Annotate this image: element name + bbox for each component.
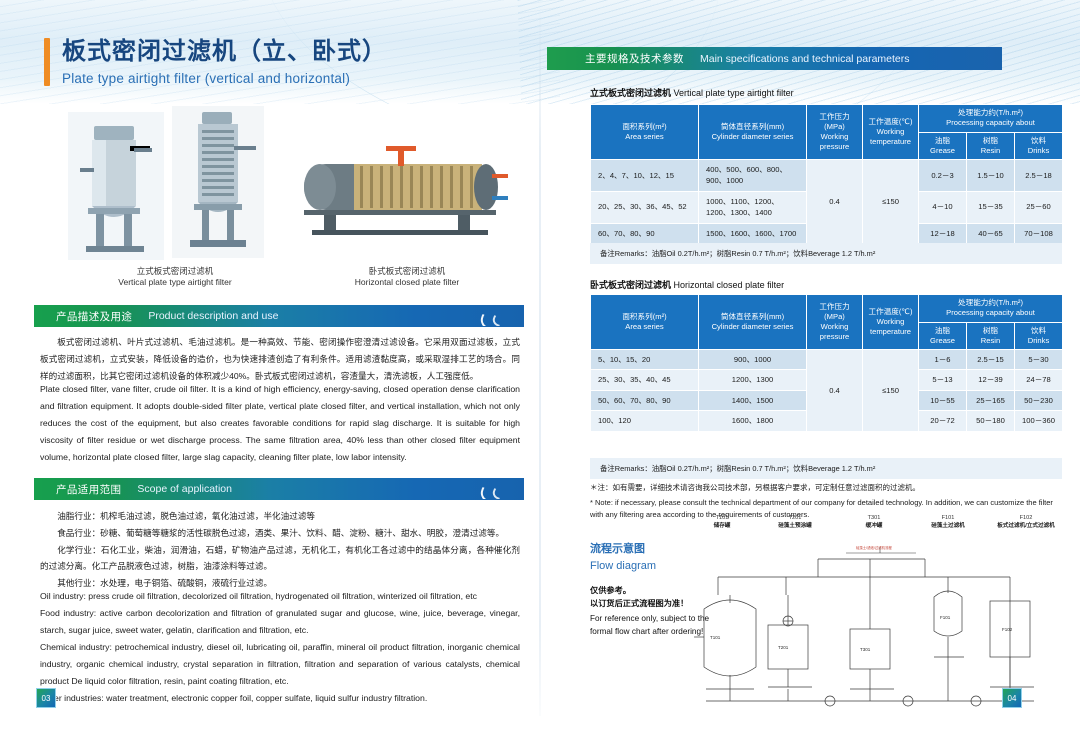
scope-list-en: Oil industry: press crude oil filtration… <box>40 588 520 707</box>
th-area-en: Area series <box>625 132 663 141</box>
cell-diameter: 1200、1300 <box>699 370 807 390</box>
spec-table-horizontal: 面积系列(m²) Area series 筒体直径系列(mm) Cylinder… <box>590 294 1063 432</box>
cell-area: 50、60、70、80、90 <box>591 390 699 410</box>
page-title-cn: 板式密闭过滤机（立、卧式） <box>62 38 387 66</box>
cell-temperature: ≤150 <box>863 160 919 244</box>
th-temperature-cn: 工作温度(℃) <box>869 307 913 316</box>
caption-horizontal-en: Horizontal closed plate filter <box>302 277 512 288</box>
cell-area: 5、10、15、20 <box>591 350 699 370</box>
th-temperature-en: Working temperature <box>870 317 911 336</box>
cell-grease: 20－72 <box>919 411 967 431</box>
vertical-filter-illustration-a <box>68 112 164 260</box>
th-pressure-en: Working pressure <box>820 132 850 151</box>
th-grease: 油脂 Grease <box>919 132 967 160</box>
th-pressure: 工作压力(MPa) Working pressure <box>807 105 863 160</box>
th-temperature-en: Working temperature <box>870 127 911 146</box>
cell-pressure: 0.4 <box>807 160 863 244</box>
table-header-row: 面积系列(m²) Area series 筒体直径系列(mm) Cylinder… <box>591 295 1063 323</box>
scope-item-en: Food industry: active carbon decolorizat… <box>40 605 520 639</box>
specs-ribbon-header: 主要规格及技术参数 Main specifications and techni… <box>547 47 1002 70</box>
section-header-description: 产品描述及用途 Product description and use <box>34 305 524 327</box>
th-drinks-en: Drinks <box>1028 336 1050 345</box>
cell-grease: 4－10 <box>919 191 967 223</box>
th-pressure-cn: 工作压力(MPa) <box>819 302 849 321</box>
th-drinks: 饮料 Drinks <box>1015 132 1063 160</box>
flow-equipment-t101: T101 储存罐 <box>690 515 754 529</box>
th-pressure-en: Working pressure <box>820 322 850 341</box>
flow-name: 硅藻土预涂罐 <box>752 521 838 529</box>
flow-diagram: T101 储存罐 T201 硅藻土预涂罐 T301 缓冲罐 F101 硅藻土过滤… <box>690 515 1065 715</box>
remarks-vertical: 备注Remarks：油脂Oil 0.2T/h.m²；树脂Resin 0.7 T/… <box>590 243 1062 264</box>
th-area: 面积系列(m²) Area series <box>591 105 699 160</box>
table-row: 2、4、7、10、12、15 400、500、600、800、900、1000 … <box>591 160 1063 192</box>
description-paragraph-cn: 板式密闭过滤机、叶片式过滤机、毛油过滤机。是一种高效、节能、密闭操作密澄清过滤设… <box>40 334 520 384</box>
th-grease-en: Grease <box>930 146 955 155</box>
table-title-vertical-cn: 立式板式密闭过滤机 <box>590 88 671 98</box>
flow-name: 板式过滤机/立式过滤机 <box>986 521 1066 529</box>
table-header-row: 面积系列(m²) Area series 筒体直径系列(mm) Cylinder… <box>591 105 1063 133</box>
th-pressure-cn: 工作压力(MPa) <box>819 112 849 131</box>
product-photo-horizontal <box>290 138 512 242</box>
caption-horizontal-cn: 卧式板式密闭过滤机 <box>302 266 512 277</box>
cell-diameter: 1400、1500 <box>699 390 807 410</box>
th-temperature: 工作温度(℃) Working temperature <box>863 295 919 350</box>
section-swoosh-icon <box>476 306 522 326</box>
svg-text:T101: T101 <box>710 635 721 640</box>
th-drinks-en: Drinks <box>1028 146 1050 155</box>
cell-temperature: ≤150 <box>863 350 919 432</box>
th-grease-en: Grease <box>930 336 955 345</box>
page-title-en: Plate type airtight filter (vertical and… <box>62 71 387 86</box>
flow-equipment-t201: T201 硅藻土预涂罐 <box>752 515 838 529</box>
scope-item-cn: 食品行业：砂糖、葡萄糖等糖浆的活性碳脱色过滤，酒类、果汁、饮料、醋、淀粉、糖汁、… <box>40 525 520 542</box>
th-diameter: 筒体直径系列(mm) Cylinder diameter series <box>699 295 807 350</box>
flow-equipment-f102: F102 板式过滤机/立式过滤机 <box>986 515 1066 529</box>
cell-area: 100、120 <box>591 411 699 431</box>
vertical-filter-cutaway-illustration <box>172 106 264 258</box>
caption-vertical: 立式板式密闭过滤机 Vertical plate type airtight f… <box>80 266 270 289</box>
cell-area: 2、4、7、10、12、15 <box>591 160 699 192</box>
th-resin-en: Resin <box>981 146 1000 155</box>
cell-grease: 0.2－3 <box>919 160 967 192</box>
th-diameter-en: Cylinder diameter series <box>712 132 794 141</box>
cell-area: 25、30、35、40、45 <box>591 370 699 390</box>
flow-diagram-title: 流程示意图 Flow diagram <box>590 540 656 572</box>
th-diameter: 筒体直径系列(mm) Cylinder diameter series <box>699 105 807 160</box>
th-capacity-cn: 处理能力约(T/h.m²) <box>958 108 1023 117</box>
page-number-left: 03 <box>36 688 56 708</box>
svg-text:F101: F101 <box>940 615 951 620</box>
th-resin-cn: 树脂 <box>983 136 998 145</box>
page-spine-divider <box>539 0 541 737</box>
cell-grease: 1－6 <box>919 350 967 370</box>
th-capacity-cn: 处理能力约(T/h.m²) <box>958 298 1023 307</box>
ribbon-label-cn: 主要规格及技术参数 <box>585 51 684 66</box>
svg-text:硅藻土/滤纸/过滤机流程: 硅藻土/滤纸/过滤机流程 <box>856 545 892 550</box>
cell-resin: 1.5－10 <box>967 160 1015 192</box>
table-title-vertical: 立式板式密闭过滤机 Vertical plate type airtight f… <box>590 86 794 99</box>
svg-text:T301: T301 <box>860 647 871 652</box>
cell-resin: 50－180 <box>967 411 1015 431</box>
ribbon-swoosh-icon <box>995 40 1065 82</box>
flow-name: 储存罐 <box>690 521 754 529</box>
cell-drinks: 24－78 <box>1015 370 1063 390</box>
th-capacity-en: Processing capacity about <box>946 308 1035 317</box>
th-resin-cn: 树脂 <box>983 326 998 335</box>
scope-item-en: Other industries: water treatment, elect… <box>40 690 520 707</box>
ribbon-label-en: Main specifications and technical parame… <box>700 53 910 65</box>
cell-area: 20、25、30、36、45、52 <box>591 191 699 223</box>
cell-area: 60、70、80、90 <box>591 223 699 243</box>
flow-title-en: Flow diagram <box>590 560 656 572</box>
flow-equipment-t301: T301 缓冲罐 <box>842 515 906 529</box>
section-scope-label-en: Scope of application <box>137 483 232 495</box>
cell-grease: 12－18 <box>919 223 967 243</box>
table-title-vertical-en: Vertical plate type airtight filter <box>674 88 794 98</box>
scope-list-cn: 油脂行业：机榨毛油过滤，脱色油过滤，氧化油过滤，半化油过滤等 食品行业：砂糖、葡… <box>40 508 520 592</box>
page-title: 板式密闭过滤机（立、卧式） Plate type airtight filter… <box>44 38 387 86</box>
svg-text:T201: T201 <box>778 645 789 650</box>
scope-item-en: Chemical industry: petrochemical industr… <box>40 639 520 690</box>
flow-name: 硅藻土过滤机 <box>912 521 984 529</box>
cell-diameter: 1000、1100、1200、1200、1300、1400 <box>699 191 807 223</box>
photo-captions: 立式板式密闭过滤机 Vertical plate type airtight f… <box>52 266 522 296</box>
table-row: 5、10、15、20 900、1000 0.4 ≤150 1－6 2.5－15 … <box>591 350 1063 370</box>
th-capacity: 处理能力约(T/h.m²) Processing capacity about <box>919 295 1063 323</box>
cell-resin: 15－35 <box>967 191 1015 223</box>
scope-item-en: Oil industry: press crude oil filtration… <box>40 588 520 605</box>
th-drinks-cn: 饮料 <box>1031 136 1046 145</box>
section-swoosh-icon <box>476 479 522 499</box>
th-resin-en: Resin <box>981 336 1000 345</box>
cell-drinks: 25－60 <box>1015 191 1063 223</box>
th-resin: 树脂 Resin <box>967 322 1015 350</box>
th-area-cn: 面积系列(m²) <box>622 312 666 321</box>
cell-pressure: 0.4 <box>807 350 863 432</box>
flow-title-cn: 流程示意图 <box>590 540 656 556</box>
caption-horizontal: 卧式板式密闭过滤机 Horizontal closed plate filter <box>302 266 512 289</box>
th-diameter-en: Cylinder diameter series <box>712 322 794 331</box>
flow-equipment-f101: F101 硅藻土过滤机 <box>912 515 984 529</box>
cell-drinks: 100－360 <box>1015 411 1063 431</box>
footnote-cn: ＊注：如有需要，详细技术请咨询我公司技术部，另根据客户要求，可定制任意过滤面积的… <box>590 482 1062 494</box>
cell-drinks: 50－230 <box>1015 390 1063 410</box>
cell-diameter: 400、500、600、800、900、1000 <box>699 160 807 192</box>
cell-resin: 2.5－15 <box>967 350 1015 370</box>
th-capacity: 处理能力约(T/h.m²) Processing capacity about <box>919 105 1063 133</box>
th-grease-cn: 油脂 <box>935 326 950 335</box>
description-paragraph-en: Plate closed filter, vane filter, crude … <box>40 381 520 466</box>
table-title-horizontal-en: Horizontal closed plate filter <box>674 280 785 290</box>
th-area-en: Area series <box>625 322 663 331</box>
spec-table-vertical: 面积系列(m²) Area series 筒体直径系列(mm) Cylinder… <box>590 104 1063 244</box>
caption-vertical-cn: 立式板式密闭过滤机 <box>80 266 270 277</box>
cell-diameter: 900、1000 <box>699 350 807 370</box>
th-diameter-cn: 筒体直径系列(mm) <box>721 122 784 131</box>
table-title-horizontal-cn: 卧式板式密闭过滤机 <box>590 280 671 290</box>
cell-resin: 25－165 <box>967 390 1015 410</box>
th-area: 面积系列(m²) Area series <box>591 295 699 350</box>
th-pressure: 工作压力(MPa) Working pressure <box>807 295 863 350</box>
th-area-cn: 面积系列(m²) <box>622 122 666 131</box>
th-temperature: 工作温度(℃) Working temperature <box>863 105 919 160</box>
section-description-label-en: Product description and use <box>148 310 278 322</box>
product-photo-group <box>52 104 522 262</box>
th-temperature-cn: 工作温度(℃) <box>869 117 913 126</box>
th-grease: 油脂 Grease <box>919 322 967 350</box>
remarks-horizontal: 备注Remarks：油脂Oil 0.2T/h.m²；树脂Resin 0.7 T/… <box>590 458 1062 479</box>
horizontal-filter-illustration <box>290 138 512 242</box>
cell-diameter: 1500、1600、1600、1700 <box>699 223 807 243</box>
cell-resin: 12－39 <box>967 370 1015 390</box>
footer-whitespace <box>0 716 1080 737</box>
th-grease-cn: 油脂 <box>935 136 950 145</box>
cell-diameter: 1600、1800 <box>699 411 807 431</box>
cell-drinks: 5－30 <box>1015 350 1063 370</box>
cell-drinks: 2.5－18 <box>1015 160 1063 192</box>
cell-grease: 10－55 <box>919 390 967 410</box>
product-photo-vertical-b-cutaway <box>172 106 264 258</box>
th-drinks-cn: 饮料 <box>1031 326 1046 335</box>
cell-grease: 5－13 <box>919 370 967 390</box>
th-resin: 树脂 Resin <box>967 132 1015 160</box>
section-header-scope: 产品适用范围 Scope of application <box>34 478 524 500</box>
cell-resin: 40－65 <box>967 223 1015 243</box>
scope-item-cn: 油脂行业：机榨毛油过滤，脱色油过滤，氧化油过滤，半化油过滤等 <box>40 508 520 525</box>
th-capacity-en: Processing capacity about <box>946 118 1035 127</box>
table-title-horizontal: 卧式板式密闭过滤机 Horizontal closed plate filter <box>590 278 784 291</box>
flow-name: 缓冲罐 <box>842 521 906 529</box>
cell-drinks: 70－108 <box>1015 223 1063 243</box>
title-accent-bar <box>44 38 50 86</box>
brochure-page: 板式密闭过滤机（立、卧式） Plate type airtight filter… <box>0 0 1080 737</box>
scope-item-cn: 化学行业：石化工业，柴油，润滑油，石蜡，矿物油产品过滤，无机化工，有机化工各过滤… <box>40 542 520 576</box>
page-number-right: 04 <box>1002 688 1022 708</box>
section-description-label-cn: 产品描述及用途 <box>56 309 132 324</box>
section-scope-label-cn: 产品适用范围 <box>56 482 121 497</box>
th-diameter-cn: 筒体直径系列(mm) <box>721 312 784 321</box>
th-drinks: 饮料 Drinks <box>1015 322 1063 350</box>
caption-vertical-en: Vertical plate type airtight filter <box>80 277 270 288</box>
svg-text:F102: F102 <box>1002 627 1013 632</box>
product-photo-vertical-a <box>68 112 164 260</box>
